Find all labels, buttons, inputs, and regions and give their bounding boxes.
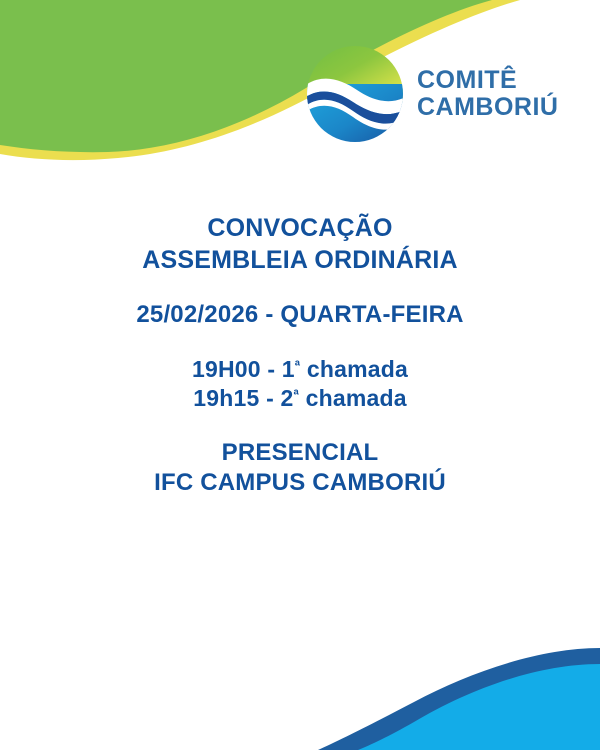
time-second-call-label: chamada [299, 385, 407, 411]
time-line-first-call: 19H00 - 1ª chamada [0, 355, 600, 384]
brand-wordmark: COMITÊ CAMBORIÚ [417, 67, 559, 121]
poster-canvas: COMITÊ CAMBORIÚ CONVOCAÇÃO ASSEMBLEIA OR… [0, 0, 600, 750]
time-first-call-number: 19H00 - 1 [192, 356, 295, 382]
wordmark-line-comite: COMITÊ [417, 67, 559, 94]
time-second-call-number: 19h15 - 2 [193, 385, 293, 411]
wave-dark-shape [318, 648, 600, 750]
announcement-text-block: CONVOCAÇÃO ASSEMBLEIA ORDINÁRIA 25/02/20… [0, 212, 600, 499]
wordmark-line-camboriu: CAMBORIÚ [417, 94, 559, 121]
brand-logo: COMITÊ CAMBORIÚ [305, 42, 575, 146]
heading-line-convocacao: CONVOCAÇÃO [0, 212, 600, 244]
date-line: 25/02/2026 - QUARTA-FEIRA [0, 300, 600, 331]
location-group: PRESENCIAL IFC CAMPUS CAMBORIÚ [0, 438, 600, 499]
location-line-modality: PRESENCIAL [0, 438, 600, 469]
times-group: 19H00 - 1ª chamada 19h15 - 2ª chamada [0, 355, 600, 414]
date-group: 25/02/2026 - QUARTA-FEIRA [0, 300, 600, 331]
time-first-call-label: chamada [300, 356, 408, 382]
comite-camboriu-logo-icon [305, 44, 405, 144]
wave-bright-shape [358, 664, 600, 750]
location-line-venue: IFC CAMPUS CAMBORIÚ [0, 468, 600, 499]
heading-line-assembleia: ASSEMBLEIA ORDINÁRIA [0, 244, 600, 276]
time-line-second-call: 19h15 - 2ª chamada [0, 384, 600, 413]
heading-group: CONVOCAÇÃO ASSEMBLEIA ORDINÁRIA [0, 212, 600, 276]
